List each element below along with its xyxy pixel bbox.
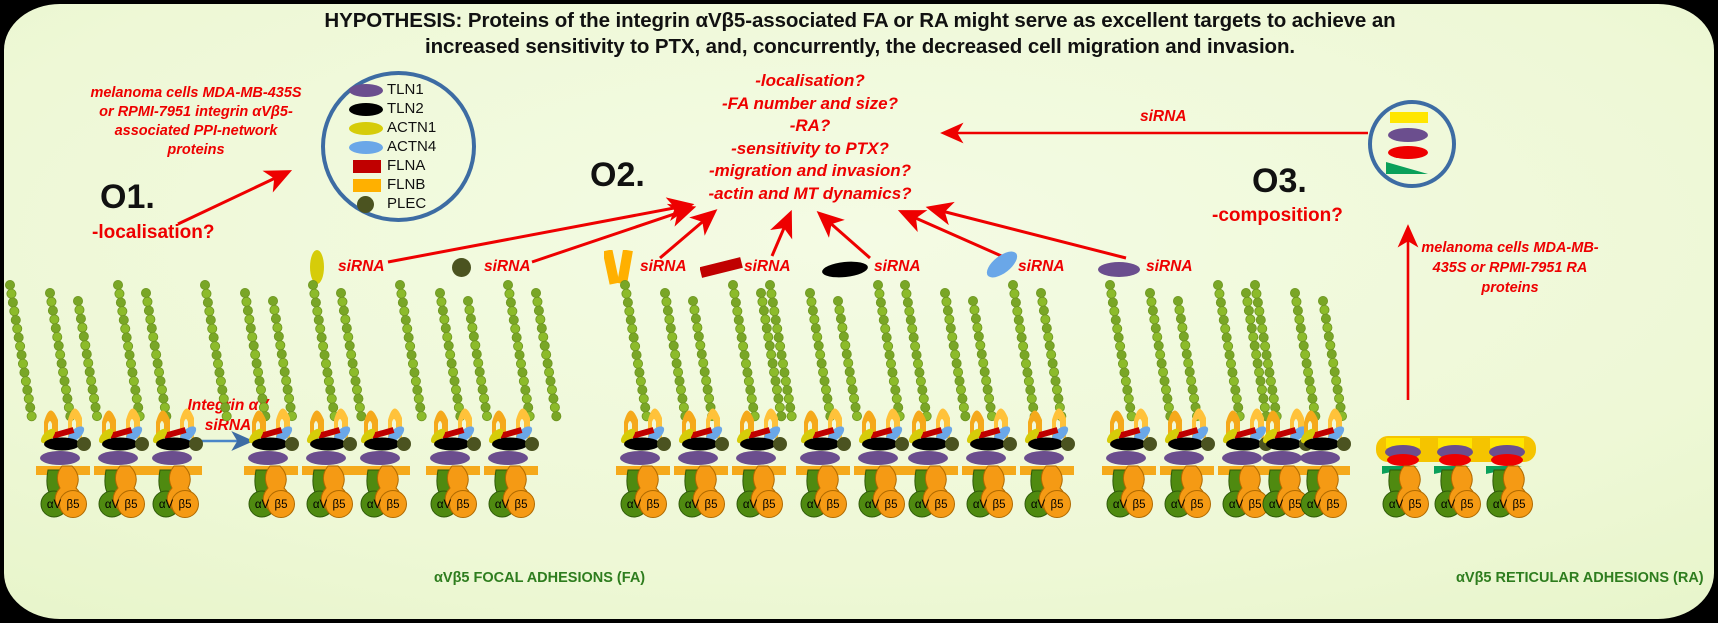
o2-questions: -localisation? -FA number and size? -RA?…	[680, 70, 940, 205]
flna-icon	[353, 160, 381, 173]
actn4-icon	[349, 141, 383, 154]
flnb-icon	[353, 179, 381, 192]
ra-red-ellipse-icon	[1388, 146, 1428, 159]
hypothesis-text: HYPOTHESIS: Proteins of the integrin αVβ…	[150, 8, 1570, 60]
sirna-label-actn4: siRNA	[1018, 258, 1065, 276]
tln2-icon	[349, 103, 383, 116]
sirna-target-flna-icon	[700, 252, 744, 284]
o2-question-ptx: -sensitivity to PTX?	[680, 138, 940, 161]
ra-green-wedge-icon	[1386, 162, 1430, 178]
legend-label-plec: PLEC	[387, 195, 426, 212]
legend-label-tln2: TLN2	[387, 100, 424, 117]
caption-fa: αVβ5 FOCAL ADHESIONS (FA)	[434, 570, 645, 586]
o3-question: -composition?	[1212, 205, 1343, 227]
o2-question-fa-number: -FA number and size?	[680, 93, 940, 116]
sirna-label-tln1: siRNA	[1146, 258, 1193, 276]
sirna-target-plec-icon	[452, 258, 471, 277]
o2-question-dynamics: -actin and MT dynamics?	[680, 183, 940, 206]
legend-label-actn1: ACTN1	[387, 119, 436, 136]
legend-row-tln1: TLN1	[345, 82, 475, 99]
o2-question-ra: -RA?	[680, 115, 940, 138]
hypothesis-line-2: increased sensitivity to PTX, and, concu…	[150, 34, 1570, 60]
hypothesis-line-1: HYPOTHESIS: Proteins of the integrin αVβ…	[150, 8, 1570, 34]
sirna-label-tln2: siRNA	[874, 258, 921, 276]
o2-question-migration: -migration and invasion?	[680, 160, 940, 183]
legend-row-actn1: ACTN1	[345, 120, 475, 137]
legend-row-plec: PLEC	[345, 196, 475, 213]
legend-row-actn4: ACTN4	[345, 139, 475, 156]
o2-title: O2.	[590, 156, 645, 195]
legend-label-tln1: TLN1	[387, 81, 424, 98]
o3-sirna-label: siRNA	[1140, 108, 1187, 126]
sirna-target-flnb-icon	[604, 250, 634, 286]
actn1-icon	[349, 122, 383, 135]
o2-question-localisation: -localisation?	[680, 70, 940, 93]
legend-label-flna: FLNA	[387, 157, 425, 174]
plec-icon	[357, 196, 374, 213]
ra-purple-ellipse-icon	[1388, 128, 1428, 142]
legend-row-flna: FLNA	[345, 158, 475, 175]
o3-title: O3.	[1252, 162, 1307, 201]
sirna-target-tln1-icon	[1098, 262, 1140, 277]
tln1-icon	[349, 84, 383, 97]
ra-yellow-rect-icon	[1390, 112, 1428, 123]
caption-ra: αVβ5 RETICULAR ADHESIONS (RA)	[1456, 570, 1704, 586]
sirna-label-flna: siRNA	[744, 258, 791, 276]
o3-note: melanoma cells MDA-MB-435S or RPMI-7951 …	[1420, 238, 1600, 298]
legend-label-flnb: FLNB	[387, 176, 425, 193]
o1-title: O1.	[100, 178, 155, 217]
legend-row-flnb: FLNB	[345, 177, 475, 194]
legend-row-tln2: TLN2	[345, 101, 475, 118]
sirna-target-actn1-icon	[310, 250, 324, 284]
integrin-sirna-label: Integrin αV siRNA	[168, 396, 288, 436]
diagram-canvas: HYPOTHESIS: Proteins of the integrin αVβ…	[0, 0, 1718, 623]
sirna-label-flnb: siRNA	[640, 258, 687, 276]
legend-label-actn4: ACTN4	[387, 138, 436, 155]
sirna-label-plec: siRNA	[484, 258, 531, 276]
sirna-label-actn1: siRNA	[338, 258, 385, 276]
o1-question: -localisation?	[92, 222, 214, 244]
o1-note: melanoma cells MDA-MB-435S or RPMI-7951 …	[88, 84, 304, 160]
